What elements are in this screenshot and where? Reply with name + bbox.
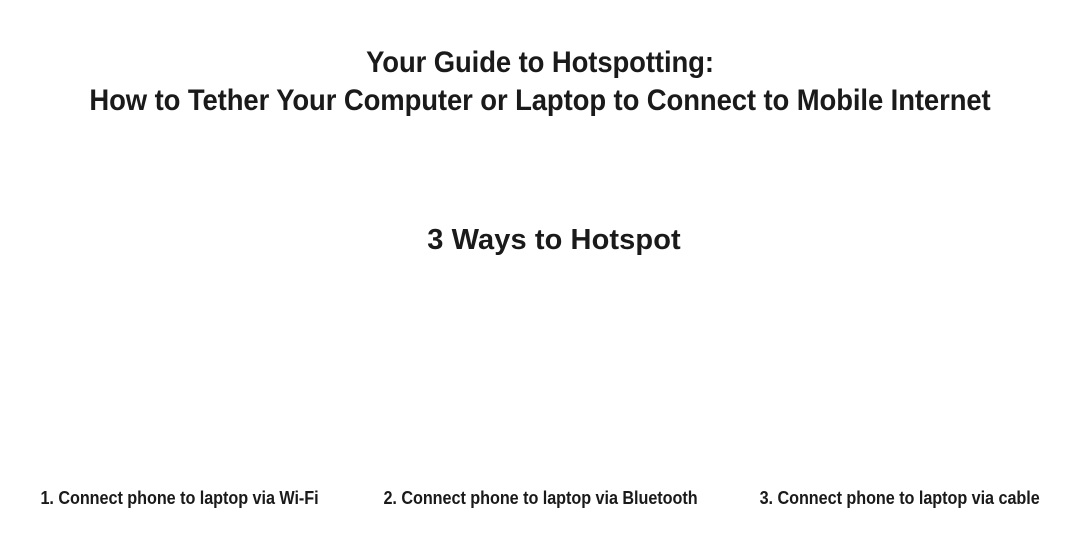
method-caption-wifi: 1. Connect phone to laptop via Wi-Fi xyxy=(0,486,360,510)
method-caption-row: 1. Connect phone to laptop via Wi-Fi 2. … xyxy=(0,486,1080,510)
illustration-slot-cable xyxy=(720,278,1080,478)
page-title-line-2: How to Tether Your Computer or Laptop to… xyxy=(46,82,1034,120)
method-caption-cable-label: 3. Connect phone to laptop via cable xyxy=(760,486,1040,510)
illustration-band xyxy=(0,278,1080,478)
page-title-line-1: Your Guide to Hotspotting: xyxy=(46,44,1034,82)
method-caption-wifi-label: 1. Connect phone to laptop via Wi-Fi xyxy=(41,486,319,510)
page-title: Your Guide to Hotspotting: How to Tether… xyxy=(0,44,1080,120)
method-caption-bluetooth: 2. Connect phone to laptop via Bluetooth xyxy=(360,486,720,510)
infographic-page: Your Guide to Hotspotting: How to Tether… xyxy=(0,0,1080,552)
illustration-slot-wifi xyxy=(0,278,360,478)
section-heading-label: 3 Ways to Hotspot xyxy=(399,222,681,258)
method-caption-bluetooth-label: 2. Connect phone to laptop via Bluetooth xyxy=(383,486,697,510)
method-caption-cable: 3. Connect phone to laptop via cable xyxy=(720,486,1080,510)
illustration-slot-bluetooth xyxy=(360,278,720,478)
section-heading: 3 Ways to Hotspot xyxy=(0,222,1080,258)
